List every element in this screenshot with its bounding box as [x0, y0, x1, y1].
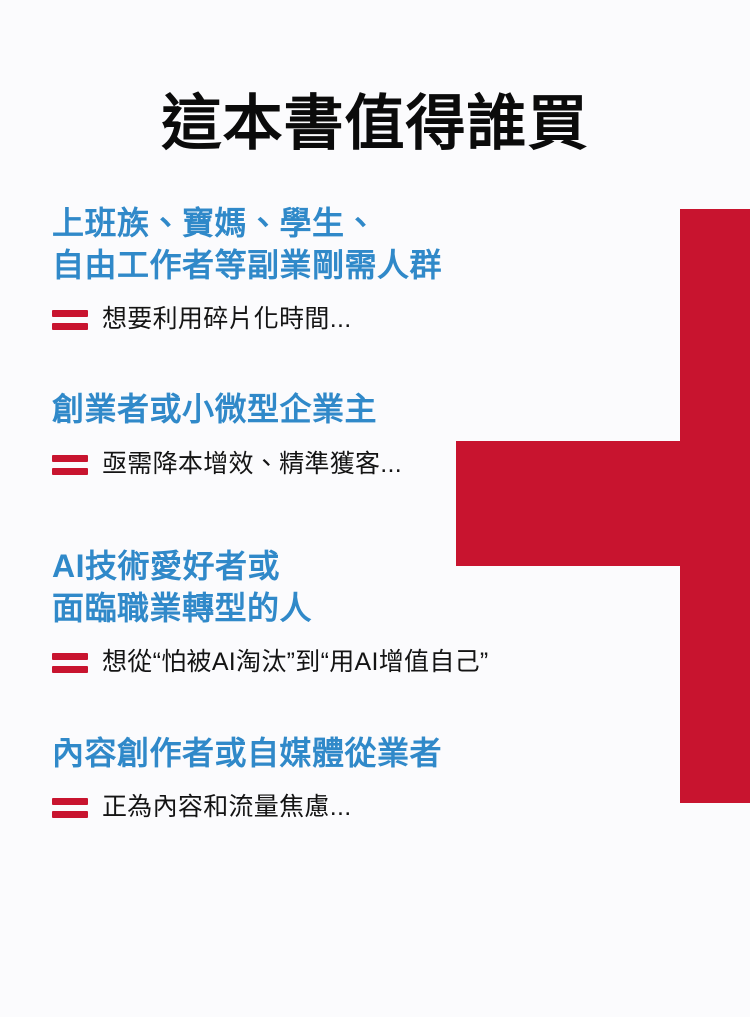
red-equals-icon: [52, 453, 88, 477]
content-layer: 這本書值得誰買 上班族、寶媽、學生、 自由工作者等副業剛需人群 想要利用碎片化時…: [0, 0, 750, 1017]
red-equals-icon-bar-top: [52, 653, 88, 660]
red-equals-icon-bar-bottom: [52, 468, 88, 475]
audience-section-detail-row: 想從“怕被AI淘汰”到“用AI增值自己”: [52, 647, 712, 678]
red-equals-icon-bar-top: [52, 310, 88, 317]
poster-canvas: 這本書值得誰買 上班族、寶媽、學生、 自由工作者等副業剛需人群 想要利用碎片化時…: [0, 0, 750, 1017]
audience-section: 內容創作者或自媒體從業者 正為內容和流量焦慮...: [52, 733, 712, 824]
red-equals-icon: [52, 651, 88, 675]
audience-section-detail-text: 亟需降本增效、精準獲客...: [102, 449, 402, 480]
audience-section-heading: AI技術愛好者或 面臨職業轉型的人: [52, 546, 712, 629]
red-equals-icon: [52, 796, 88, 820]
audience-section-detail-row: 亟需降本增效、精準獲客...: [52, 449, 712, 480]
red-equals-icon-bar-bottom: [52, 811, 88, 818]
audience-section-heading: 上班族、寶媽、學生、 自由工作者等副業剛需人群: [52, 203, 712, 286]
red-equals-icon-bar-top: [52, 455, 88, 462]
audience-section-detail-text: 想要利用碎片化時間...: [102, 304, 351, 335]
audience-section-detail-row: 正為內容和流量焦慮...: [52, 792, 712, 823]
red-equals-icon-bar-bottom: [52, 323, 88, 330]
audience-section-heading: 創業者或小微型企業主: [52, 389, 712, 431]
audience-section-detail-text: 正為內容和流量焦慮...: [102, 792, 351, 823]
red-equals-icon-bar-top: [52, 798, 88, 805]
audience-section-heading: 內容創作者或自媒體從業者: [52, 733, 712, 775]
audience-section-detail-row: 想要利用碎片化時間...: [52, 304, 712, 335]
audience-section-list: 上班族、寶媽、學生、 自由工作者等副業剛需人群 想要利用碎片化時間... 創業者…: [52, 203, 712, 824]
audience-section-detail-text: 想從“怕被AI淘汰”到“用AI增值自己”: [102, 647, 489, 678]
audience-section: AI技術愛好者或 面臨職業轉型的人 想從“怕被AI淘汰”到“用AI增值自己”: [52, 546, 712, 678]
page-title: 這本書值得誰買: [0, 90, 750, 157]
audience-section: 創業者或小微型企業主 亟需降本增效、精準獲客...: [52, 389, 712, 480]
red-equals-icon-bar-bottom: [52, 666, 88, 673]
red-equals-icon: [52, 308, 88, 332]
audience-section: 上班族、寶媽、學生、 自由工作者等副業剛需人群 想要利用碎片化時間...: [52, 203, 712, 335]
